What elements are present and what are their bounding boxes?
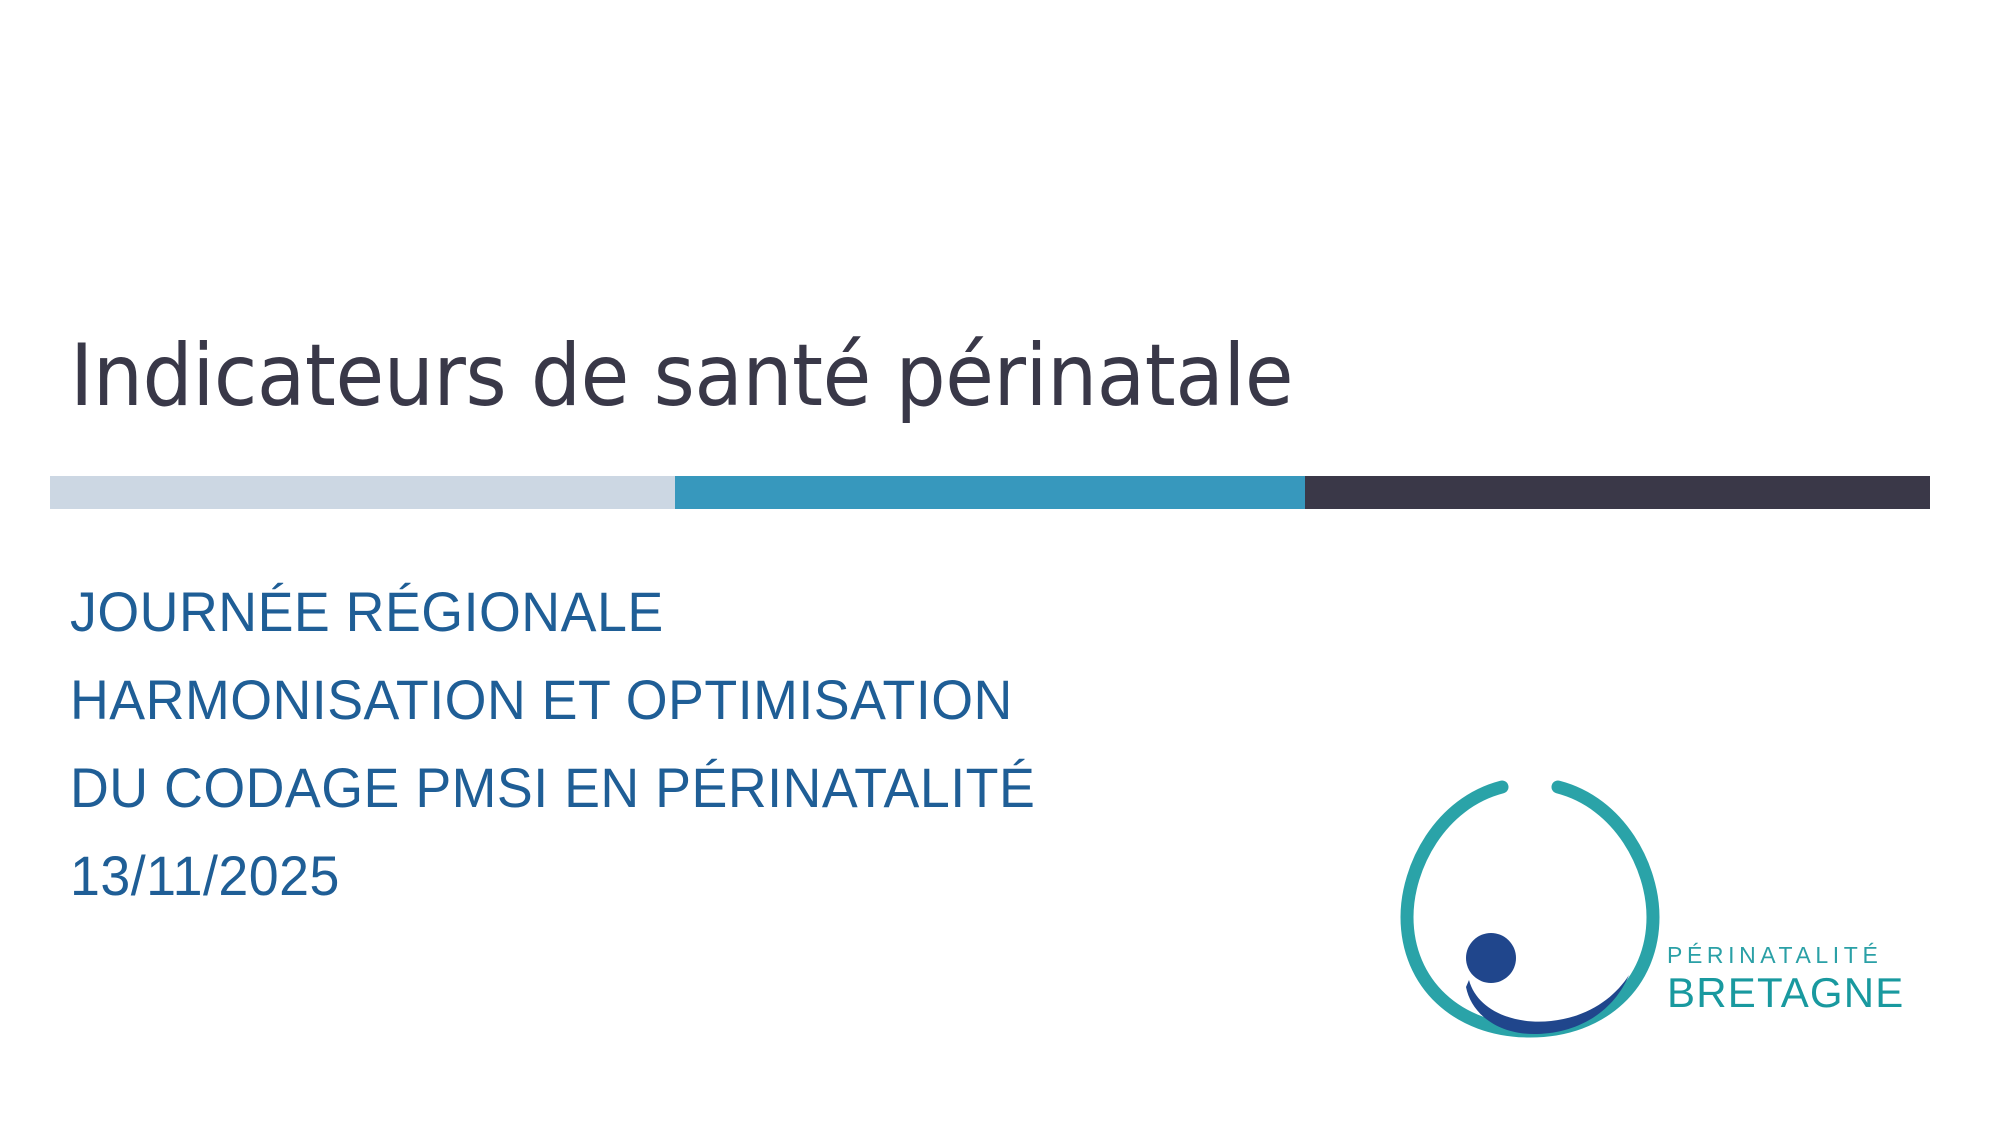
divider-segment-light-blue bbox=[50, 476, 675, 509]
subtitle-line-event: JOURNÉE RÉGIONALE bbox=[70, 568, 1318, 656]
subtitle-line-theme-part1: HARMONISATION ET OPTIMISATION bbox=[70, 656, 1318, 744]
slide-title: Indicateurs de santé périnatale bbox=[70, 330, 1542, 423]
logo-wordmark: PÉRINATALITÉ BRETAGNE bbox=[1667, 940, 1947, 1016]
presentation-slide: Indicateurs de santé périnatale JOURNÉE … bbox=[0, 0, 2000, 1125]
logo-wordmark-line2: BRETAGNE bbox=[1667, 970, 1947, 1016]
divider-segment-dark-slate bbox=[1305, 476, 1930, 509]
subtitle-line-date: 13/11/2025 bbox=[70, 832, 1318, 920]
logo-wordmark-line1: PÉRINATALITÉ bbox=[1667, 940, 1947, 970]
perinatalite-bretagne-logo-icon bbox=[1395, 775, 1665, 1040]
subtitle-line-theme-part2: DU CODAGE PMSI EN PÉRINATALITÉ bbox=[70, 744, 1318, 832]
divider-bar bbox=[50, 476, 1930, 509]
organisation-logo: PÉRINATALITÉ BRETAGNE bbox=[1395, 775, 1955, 1045]
divider-segment-teal bbox=[675, 476, 1305, 509]
slide-subtitle: JOURNÉE RÉGIONALE HARMONISATION ET OPTIM… bbox=[70, 568, 1370, 920]
